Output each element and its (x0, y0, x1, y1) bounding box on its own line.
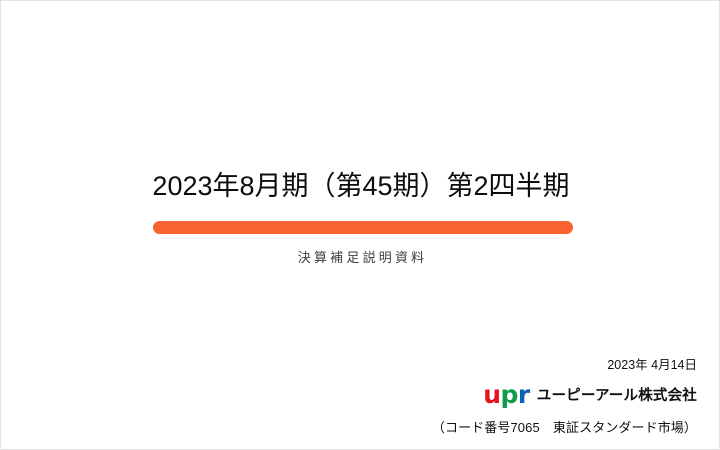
upr-logo-icon: upr (483, 382, 530, 407)
presentation-title-slide: 2023年8月期（第45期）第2四半期 決算補足説明資料 2023年 4月14日… (0, 0, 720, 450)
footer-block: 2023年 4月14日 upr ユーピーアール株式会社 （コード番号7065 東… (217, 357, 697, 437)
document-date: 2023年 4月14日 (217, 357, 697, 374)
company-identity: upr ユーピーアール株式会社 (217, 383, 697, 408)
market-code-label: （コード番号7065 東証スタンダード市場） (217, 419, 697, 437)
logo-letter-r: r (518, 380, 530, 409)
page-title: 2023年8月期（第45期）第2四半期 (1, 169, 720, 203)
logo-letter-u: u (483, 380, 500, 409)
logo-letter-p: p (501, 380, 518, 409)
title-block: 2023年8月期（第45期）第2四半期 (1, 169, 720, 203)
subtitle-block: 決算補足説明資料 (1, 249, 720, 267)
company-name: ユーピーアール株式会社 (537, 387, 697, 405)
page-subtitle: 決算補足説明資料 (1, 249, 720, 267)
accent-bar-divider (153, 221, 573, 234)
